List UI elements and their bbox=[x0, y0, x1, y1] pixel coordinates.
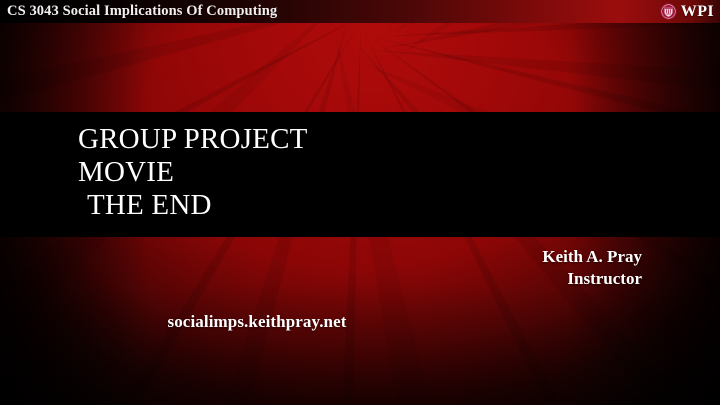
slide-header-bar: CS 3043 Social Implications Of Computing… bbox=[0, 0, 720, 23]
wpi-logo-text: WPI bbox=[681, 4, 714, 20]
slide-title-line-2: MOVIE bbox=[78, 156, 308, 189]
background-bottom-shade bbox=[0, 285, 720, 405]
slide-title-line-3: THE END bbox=[78, 189, 308, 222]
title-band: GROUP PROJECT MOVIE THE END bbox=[0, 112, 720, 237]
slide-title-line-1: GROUP PROJECT bbox=[78, 123, 308, 156]
slide-title-group: GROUP PROJECT MOVIE THE END bbox=[78, 123, 308, 222]
presenter-role: Instructor bbox=[542, 268, 642, 290]
course-website-url-text: socialimps.keithpray.net bbox=[167, 312, 346, 331]
presenter-byline: Keith A. Pray Instructor bbox=[542, 246, 642, 290]
presentation-slide: CS 3043 Social Implications Of Computing… bbox=[0, 0, 720, 405]
presenter-name: Keith A. Pray bbox=[542, 246, 642, 268]
wpi-logo: WPI bbox=[660, 3, 720, 20]
course-title: CS 3043 Social Implications Of Computing bbox=[0, 3, 277, 20]
wpi-seal-icon bbox=[660, 3, 677, 20]
course-website-url: socialimps.keithpray.net bbox=[0, 312, 720, 332]
